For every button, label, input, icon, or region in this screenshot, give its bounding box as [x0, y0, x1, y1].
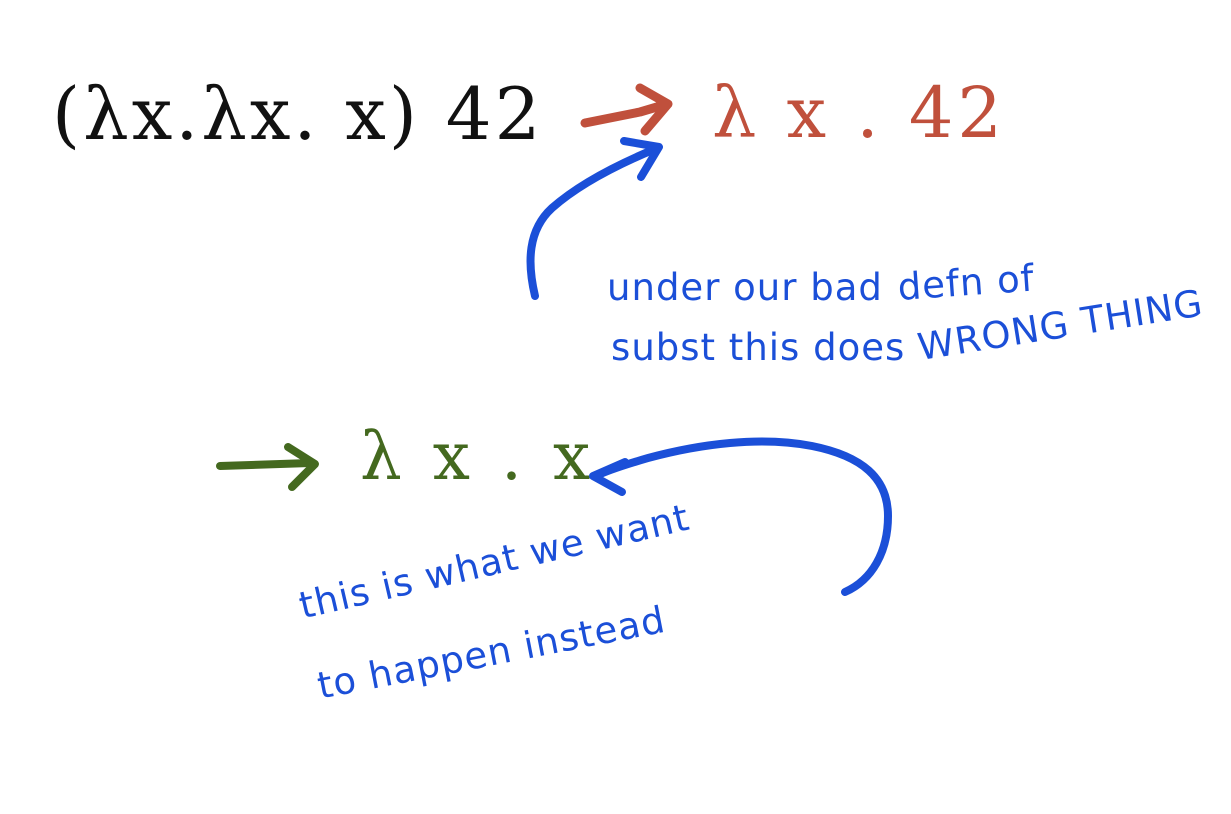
red-reduction-arrow-icon [585, 88, 668, 131]
note-wrong-line-2: subst this doesWRONG THING [560, 292, 1209, 403]
correct-result-expression: λ x . x [360, 424, 595, 490]
note-wrong-line-2-head: subst this does [611, 326, 905, 369]
wrong-result-expression: λ x . 42 [712, 78, 1006, 148]
note-want-line-2: to happen instead [314, 601, 668, 705]
whiteboard-canvas: (λx.λx. x) 42 λ x . 42 λ x . x under our… [0, 0, 1231, 814]
green-reduction-arrow-icon [220, 447, 315, 487]
note-wrong-line-2-tail: WRONG THING [915, 284, 1205, 366]
source-expression: (λx.λx. x) 42 [52, 78, 543, 150]
